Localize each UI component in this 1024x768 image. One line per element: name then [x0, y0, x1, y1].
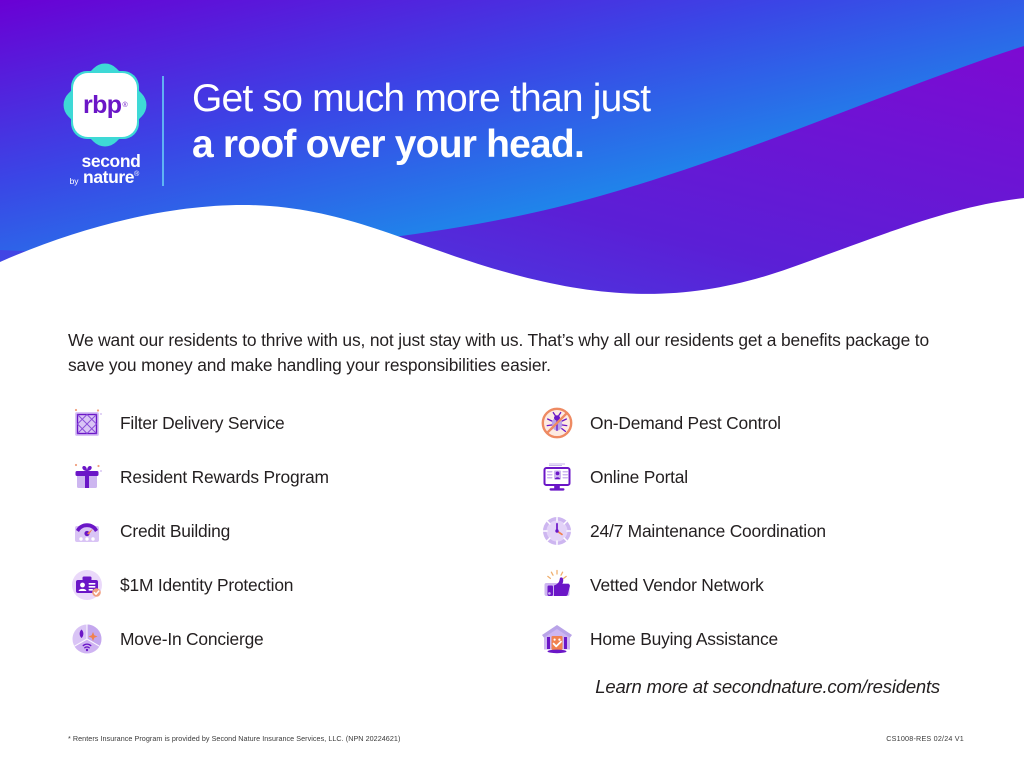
logo-byline: by second nature®: [55, 153, 155, 186]
hero-divider: [162, 76, 164, 186]
house-check-icon: [538, 620, 576, 658]
rbp-logo: rbp® by second nature®: [55, 62, 155, 186]
benefit-label: Home Buying Assistance: [590, 629, 778, 650]
move-in-wifi-icon: [68, 620, 106, 658]
benefit-item: 24/7 Maintenance Coordination: [538, 504, 968, 558]
benefits-section: Filter Delivery Service Re: [68, 396, 968, 666]
benefit-item: $1M Identity Protection: [68, 558, 538, 612]
benefit-label: Online Portal: [590, 467, 688, 488]
headline-line-1: Get so much more than just: [192, 76, 650, 122]
flyer-page: rbp® by second nature® Get so much more …: [0, 0, 1024, 768]
benefit-item: Vetted Vendor Network: [538, 558, 968, 612]
footer-document-code: CS1008-RES 02/24 V1: [886, 734, 964, 743]
footer-disclaimer: * Renters Insurance Program is provided …: [68, 734, 400, 743]
benefit-item: Home Buying Assistance: [538, 612, 968, 666]
logo-by-label: by: [70, 177, 79, 186]
benefit-label: Filter Delivery Service: [120, 413, 285, 434]
intro-paragraph: We want our residents to thrive with us,…: [68, 328, 938, 377]
benefit-label: 24/7 Maintenance Coordination: [590, 521, 826, 542]
benefit-label: Credit Building: [120, 521, 230, 542]
no-pest-icon: [538, 404, 576, 442]
credit-stars-icon: [68, 512, 106, 550]
air-filter-icon: [68, 404, 106, 442]
benefit-label: Move-In Concierge: [120, 629, 264, 650]
benefit-label: On-Demand Pest Control: [590, 413, 781, 434]
id-badge-icon: [68, 566, 106, 604]
logo-brand-line2-text: nature: [83, 167, 134, 187]
benefit-item: Filter Delivery Service: [68, 396, 538, 450]
clock-icon: [538, 512, 576, 550]
benefit-item: On-Demand Pest Control: [538, 396, 968, 450]
benefit-label: Vetted Vendor Network: [590, 575, 764, 596]
gift-box-icon: [68, 458, 106, 496]
thumbs-up-icon: [538, 566, 576, 604]
cta-link[interactable]: Learn more at secondnature.com/residents: [595, 676, 940, 698]
benefit-item: Resident Rewards Program: [68, 450, 538, 504]
benefits-left-column: Filter Delivery Service Re: [68, 396, 538, 666]
logo-wordmark: rbp®: [62, 62, 148, 148]
logo-brand-registered-mark: ®: [134, 172, 139, 179]
logo-wordmark-text: rbp: [83, 93, 121, 118]
hero-headline: Get so much more than just a roof over y…: [192, 76, 650, 168]
logo-registered-mark: ®: [122, 102, 127, 109]
hero-banner: rbp® by second nature® Get so much more …: [0, 0, 1024, 300]
monitor-icon: [538, 458, 576, 496]
benefit-item: Move-In Concierge: [68, 612, 538, 666]
benefit-item: Online Portal: [538, 450, 968, 504]
logo-brand-line2: nature®: [82, 169, 141, 185]
benefit-label: $1M Identity Protection: [120, 575, 293, 596]
rbp-logo-mark: rbp®: [62, 62, 148, 148]
benefits-right-column: On-Demand Pest Control: [538, 396, 968, 666]
benefit-label: Resident Rewards Program: [120, 467, 329, 488]
headline-line-2: a roof over your head.: [192, 122, 650, 168]
benefit-item: Credit Building: [68, 504, 538, 558]
logo-brand-name: second nature®: [82, 153, 141, 186]
